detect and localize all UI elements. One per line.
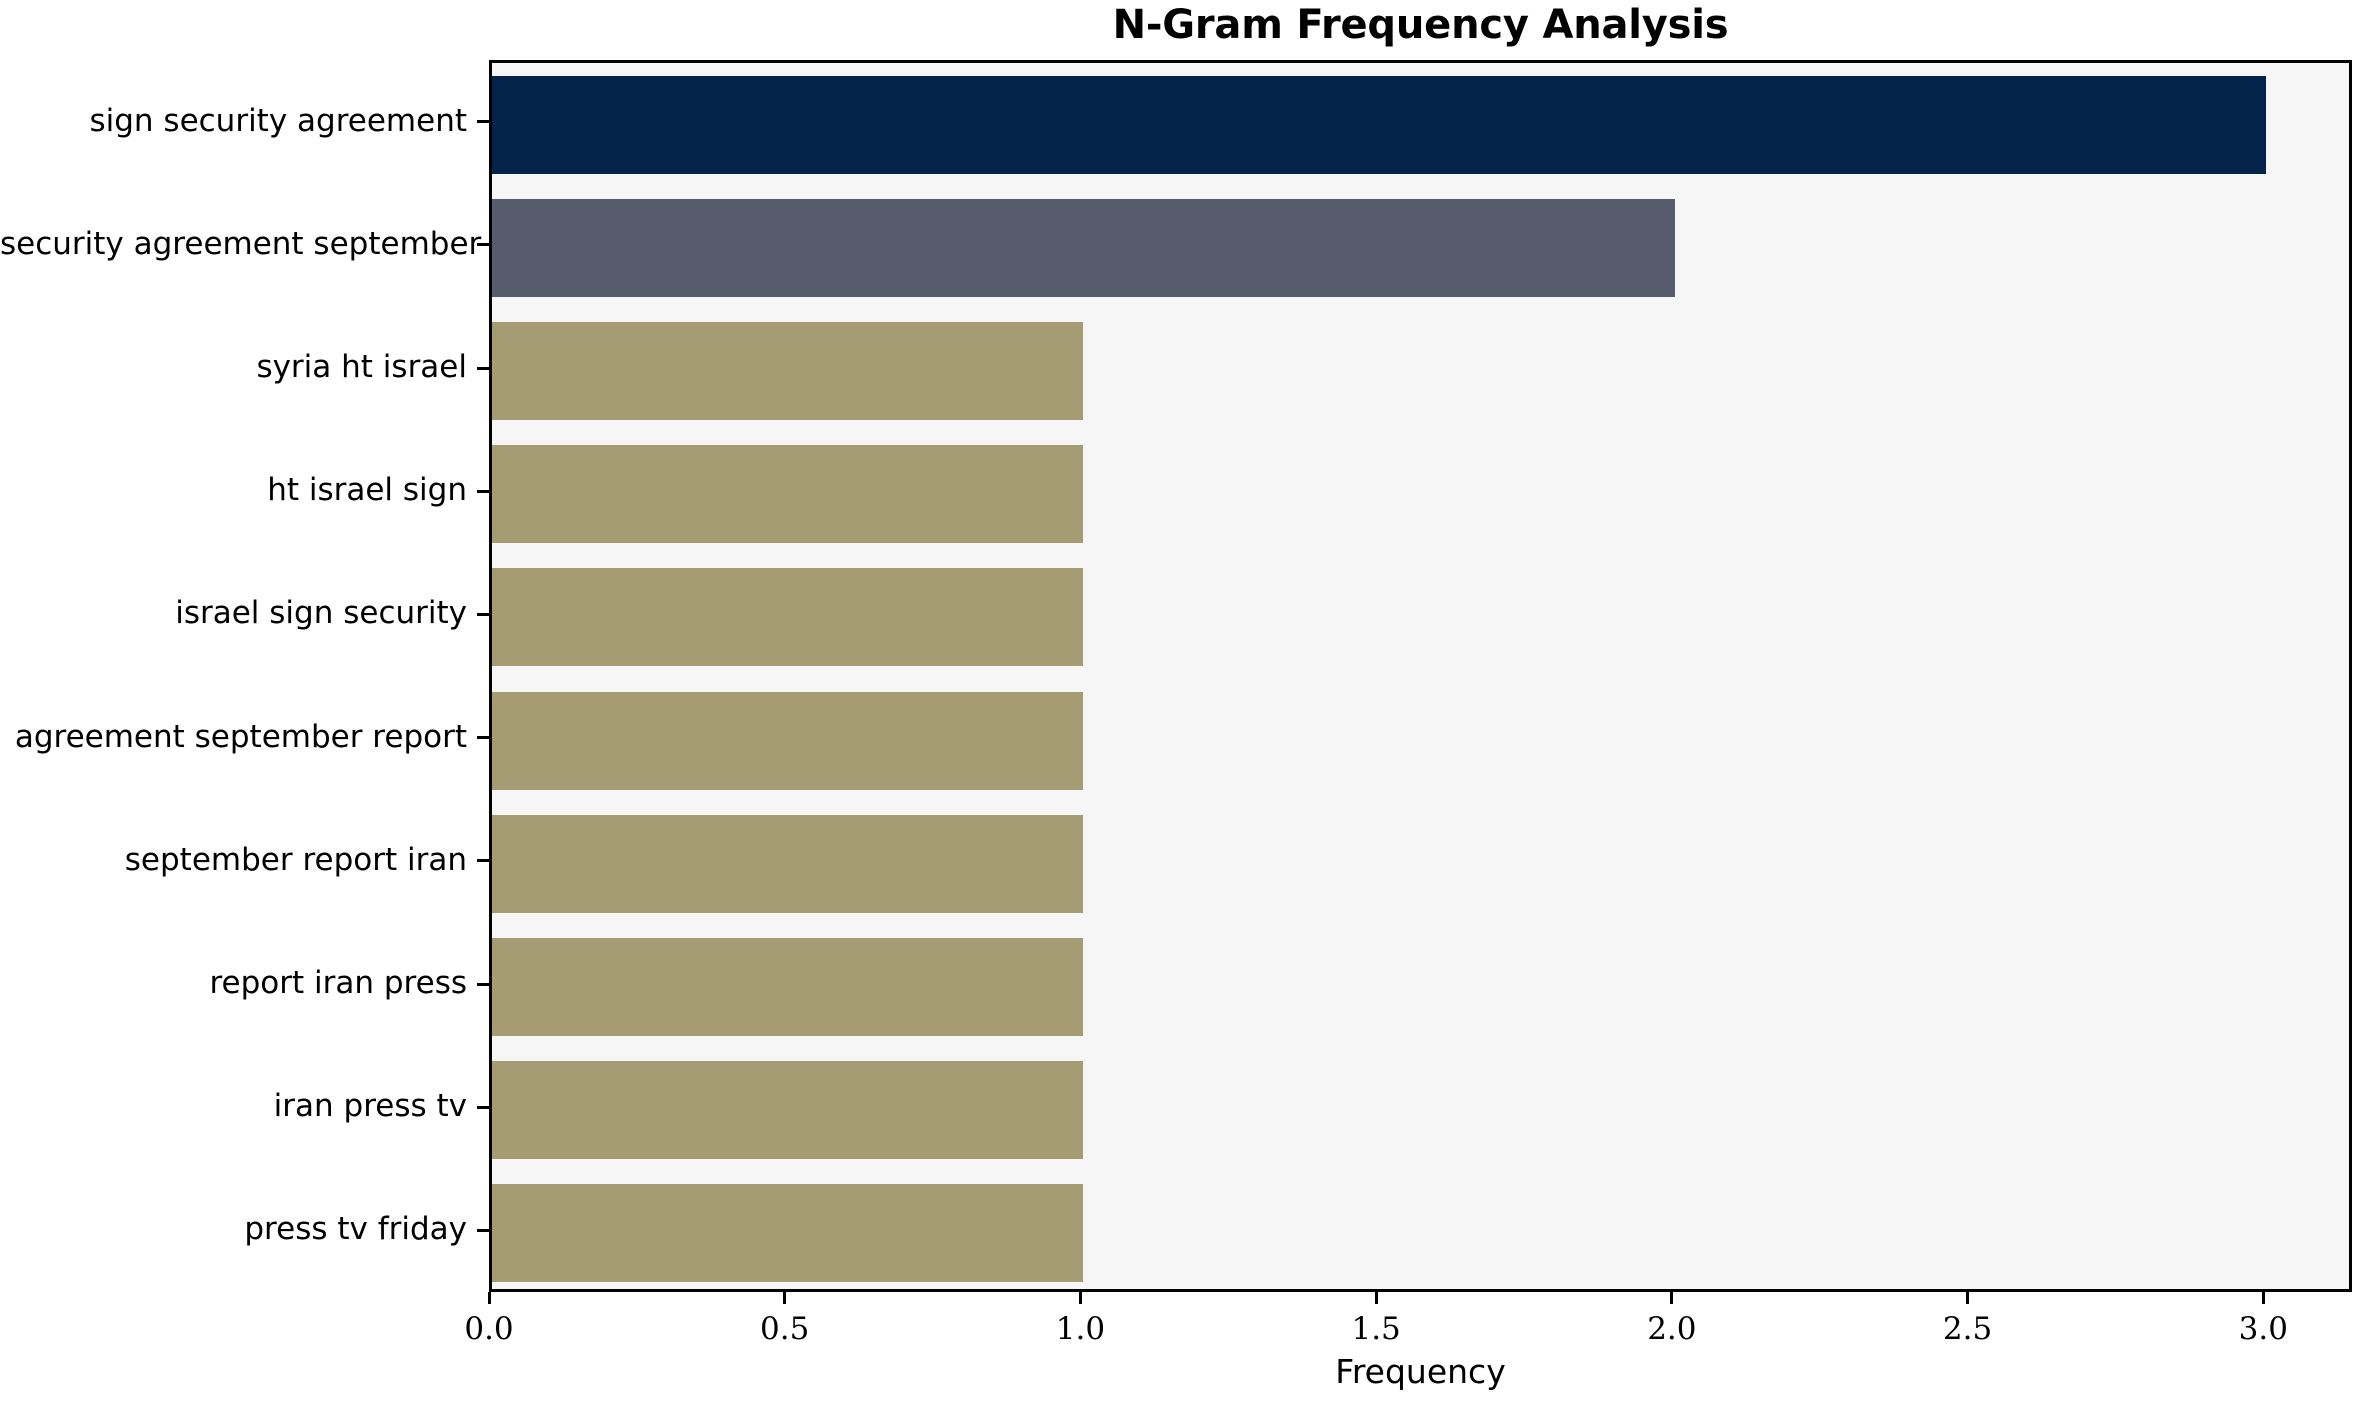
bar	[492, 445, 1083, 543]
y-tick-label: september report iran	[0, 845, 467, 876]
y-tick-label: syria ht israel	[0, 352, 467, 383]
y-tick-label: ht israel sign	[0, 475, 467, 506]
y-tick-label: agreement september report	[0, 722, 467, 753]
x-tick-mark	[488, 1292, 491, 1304]
x-tick-mark	[1079, 1292, 1082, 1304]
bar	[492, 322, 1083, 420]
y-tick-label: israel sign security	[0, 598, 467, 629]
x-tick-mark	[783, 1292, 786, 1304]
y-tick-label: sign security agreement	[0, 106, 467, 137]
y-tick-mark	[477, 983, 489, 986]
y-tick-mark	[477, 490, 489, 493]
bar	[492, 1184, 1083, 1282]
bar	[492, 692, 1083, 790]
x-tick-label: 2.5	[1908, 1314, 2028, 1345]
bar	[492, 76, 2266, 174]
y-tick-label: report iran press	[0, 968, 467, 999]
y-tick-mark	[477, 859, 489, 862]
bar	[492, 815, 1083, 913]
bar	[492, 199, 1675, 297]
x-axis-label: Frequency	[489, 1355, 2352, 1388]
x-tick-label: 0.0	[429, 1314, 549, 1345]
y-tick-mark	[477, 1106, 489, 1109]
y-tick-mark	[477, 367, 489, 370]
y-tick-label: security agreement september	[0, 229, 467, 260]
bar	[492, 938, 1083, 1036]
x-tick-mark	[1375, 1292, 1378, 1304]
bar	[492, 1061, 1083, 1159]
y-tick-label: press tv friday	[0, 1214, 467, 1245]
chart-figure: N-Gram Frequency Analysis sign security …	[0, 0, 2369, 1414]
y-tick-mark	[477, 613, 489, 616]
bars-layer	[492, 63, 2349, 1289]
x-tick-label: 2.0	[1612, 1314, 1732, 1345]
x-tick-label: 1.0	[1020, 1314, 1140, 1345]
x-tick-label: 0.5	[725, 1314, 845, 1345]
x-tick-mark	[1670, 1292, 1673, 1304]
x-tick-label: 3.0	[2203, 1314, 2323, 1345]
chart-title: N-Gram Frequency Analysis	[489, 2, 2352, 48]
x-tick-label: 1.5	[1316, 1314, 1436, 1345]
bar	[492, 568, 1083, 666]
y-tick-mark	[477, 120, 489, 123]
y-tick-mark	[477, 736, 489, 739]
plot-area	[489, 60, 2352, 1292]
y-tick-mark	[477, 1229, 489, 1232]
x-tick-mark	[1966, 1292, 1969, 1304]
y-tick-label: iran press tv	[0, 1091, 467, 1122]
x-tick-mark	[2262, 1292, 2265, 1304]
